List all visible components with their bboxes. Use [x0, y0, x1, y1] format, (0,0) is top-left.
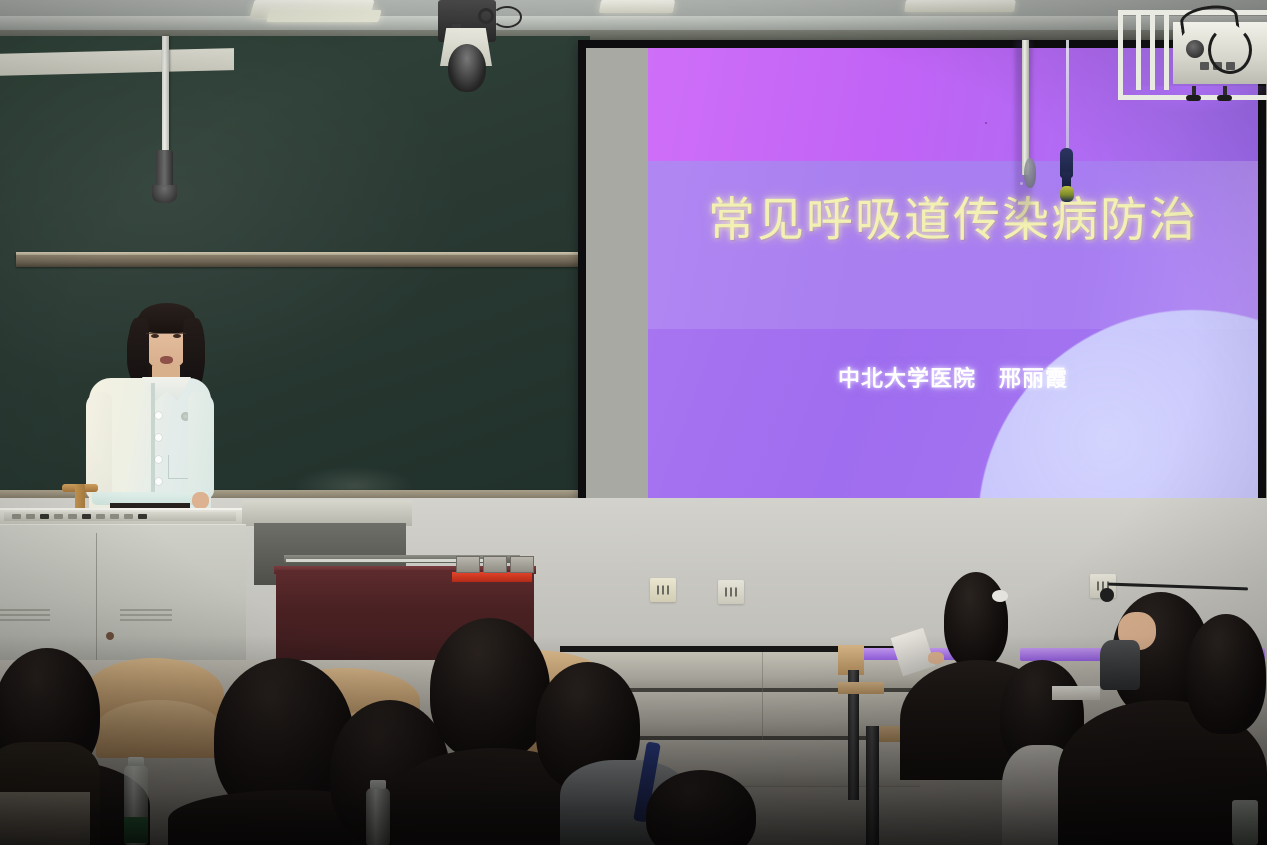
- slide-subtitle: 中北大学医院 邢丽霞: [648, 361, 1258, 393]
- student-head: [1186, 614, 1266, 734]
- hanging-pole-tip: [1024, 158, 1036, 188]
- bottle-label: [124, 817, 148, 843]
- notebook: [1052, 686, 1100, 700]
- water-bottle: [124, 765, 148, 845]
- water-bottle: [366, 788, 390, 845]
- console-key[interactable]: [124, 514, 133, 519]
- student-head: [944, 572, 1008, 668]
- classroom-photo: 常见呼吸道传染病防治 中北大学医院 邢丽霞: [0, 0, 1267, 845]
- hanging-pole: [1022, 40, 1029, 175]
- cardigan-button: [155, 412, 162, 419]
- stacked-box: [456, 556, 480, 573]
- console-control-panel[interactable]: [4, 512, 236, 521]
- wall-outlet[interactable]: [650, 578, 676, 602]
- desk-leg: [866, 726, 879, 845]
- desk-shelf: [838, 682, 884, 694]
- projection-screen: 常见呼吸道传染病防治 中北大学医院 邢丽霞: [578, 40, 1266, 520]
- projector-mount-foot: [1186, 95, 1201, 101]
- chair-back: [96, 700, 222, 758]
- projector-cable: [1208, 26, 1252, 74]
- console-key[interactable]: [110, 514, 119, 519]
- console-key[interactable]: [138, 514, 147, 519]
- console-key[interactable]: [26, 514, 35, 519]
- student-head: [430, 618, 550, 760]
- projector-mount-foot: [1217, 95, 1232, 101]
- console-key[interactable]: [54, 514, 63, 519]
- stacked-box: [510, 556, 534, 573]
- presenter-arm-right: [188, 392, 214, 500]
- cardigan-button: [155, 478, 162, 485]
- red-box: [452, 572, 532, 582]
- cabinet-vent: [22, 609, 50, 623]
- cardigan-button: [155, 456, 162, 463]
- console-key[interactable]: [96, 514, 105, 519]
- cabinet-knob[interactable]: [106, 632, 114, 640]
- cabinet-door[interactable]: [96, 533, 246, 663]
- student-arm: [1100, 640, 1140, 690]
- outlet-holes-icon: [725, 588, 737, 597]
- step-seam: [762, 652, 763, 740]
- hair-clip: [992, 590, 1008, 602]
- chalkboard-mid-rail: [16, 255, 591, 267]
- projector-cage-bar: [1150, 12, 1155, 90]
- wire-clip-tip: [1060, 186, 1074, 202]
- screen-surface: 常见呼吸道传染病防治 中北大学医院 邢丽霞: [586, 48, 1258, 512]
- projector-cage-bar: [1164, 12, 1169, 90]
- console-key[interactable]: [12, 514, 21, 519]
- projector-cage-bar: [1136, 12, 1141, 90]
- student-torso: [0, 792, 90, 845]
- microphone-cone-icon: [152, 185, 177, 203]
- console-key[interactable]: [82, 514, 91, 519]
- speaker-icon: [448, 44, 486, 92]
- water-bottle: [1232, 800, 1258, 845]
- cable-coil: [1100, 588, 1114, 602]
- bottle-cap: [370, 780, 386, 789]
- console-key[interactable]: [40, 514, 49, 519]
- equipment-cabinet[interactable]: [0, 524, 246, 664]
- cabinet-door[interactable]: [0, 533, 96, 663]
- speaker-cable: [492, 6, 522, 28]
- projected-slide: 常见呼吸道传染病防治 中北大学医院 邢丽霞: [648, 48, 1258, 510]
- slide-speck: [985, 122, 987, 124]
- glasses-icon: [146, 333, 186, 342]
- stacked-box: [483, 556, 507, 573]
- presenter-mouth: [160, 356, 173, 364]
- hanging-wire: [1066, 40, 1069, 158]
- cabinet-vent: [144, 609, 172, 623]
- student-hand: [928, 652, 944, 664]
- outlet-holes-icon: [657, 586, 669, 595]
- projector-button: [1200, 62, 1209, 70]
- console-key[interactable]: [68, 514, 77, 519]
- floor-tile-line: [720, 786, 920, 787]
- presenter-hand: [192, 492, 209, 509]
- bottle-cap: [128, 757, 144, 766]
- wall-outlet[interactable]: [718, 580, 744, 604]
- cardigan-button: [155, 434, 162, 441]
- projector-lens-icon: [1186, 40, 1204, 58]
- slide-title: 常见呼吸道传染病防治: [648, 196, 1258, 245]
